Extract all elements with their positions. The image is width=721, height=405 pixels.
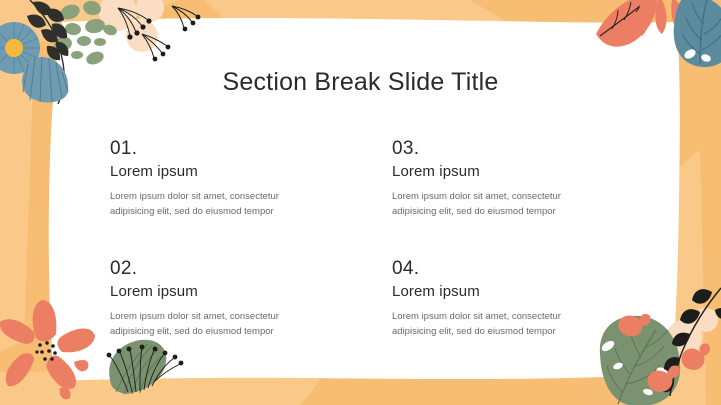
item-heading: Lorem ipsum (110, 163, 340, 181)
list-item-04: 04. Lorem ipsum Lorem ipsum dolor sit am… (392, 258, 622, 339)
item-body-line: Lorem ipsum dolor sit amet, consectetur (110, 310, 340, 325)
item-number: 01. (110, 138, 340, 160)
item-body: Lorem ipsum dolor sit amet, consectetur … (392, 190, 622, 219)
item-body-line: Lorem ipsum dolor sit amet, consectetur (392, 190, 622, 205)
item-body-line: adipisicing elit, sed do eiusmod tempor (392, 325, 622, 340)
list-item-03: 03. Lorem ipsum Lorem ipsum dolor sit am… (392, 138, 622, 219)
item-body-line: adipisicing elit, sed do eiusmod tempor (110, 325, 340, 340)
item-heading: Lorem ipsum (392, 163, 622, 181)
list-item-01: 01. Lorem ipsum Lorem ipsum dolor sit am… (110, 138, 340, 219)
item-heading: Lorem ipsum (110, 283, 340, 301)
item-body: Lorem ipsum dolor sit amet, consectetur … (392, 310, 622, 339)
slide-content: Section Break Slide Title 01. Lorem ipsu… (0, 0, 721, 405)
item-body-line: adipisicing elit, sed do eiusmod tempor (110, 205, 340, 220)
item-number: 04. (392, 258, 622, 280)
item-body-line: adipisicing elit, sed do eiusmod tempor (392, 205, 622, 220)
item-number: 02. (110, 258, 340, 280)
section-break-slide: Section Break Slide Title 01. Lorem ipsu… (0, 0, 721, 405)
item-heading: Lorem ipsum (392, 283, 622, 301)
item-body-line: Lorem ipsum dolor sit amet, consectetur (110, 190, 340, 205)
item-number: 03. (392, 138, 622, 160)
item-body: Lorem ipsum dolor sit amet, consectetur … (110, 190, 340, 219)
page-title: Section Break Slide Title (0, 68, 721, 97)
item-body: Lorem ipsum dolor sit amet, consectetur … (110, 310, 340, 339)
list-item-02: 02. Lorem ipsum Lorem ipsum dolor sit am… (110, 258, 340, 339)
item-body-line: Lorem ipsum dolor sit amet, consectetur (392, 310, 622, 325)
